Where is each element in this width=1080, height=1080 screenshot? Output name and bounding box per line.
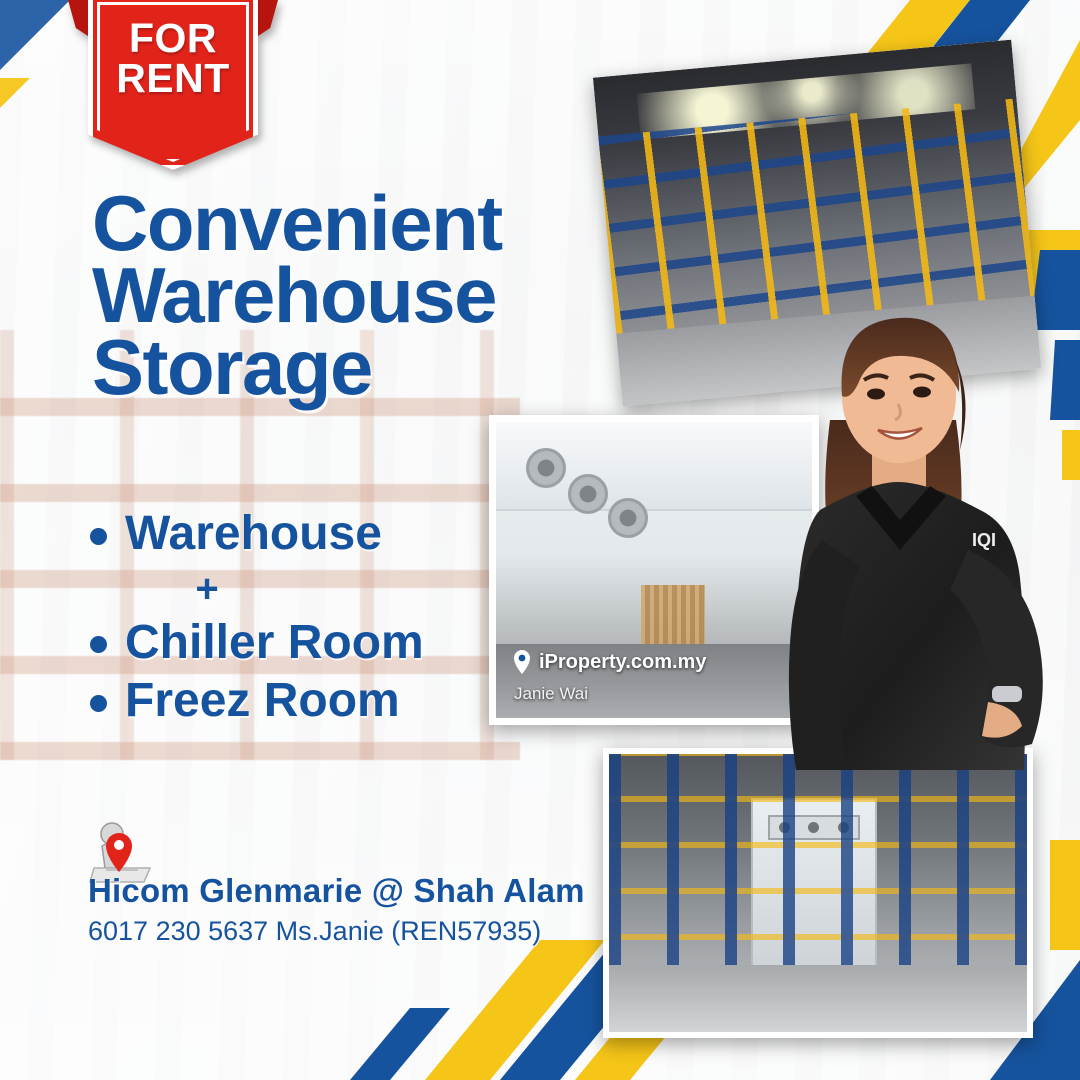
freezer-racking-photo: [603, 748, 1033, 1038]
headline-line-3: Storage: [92, 332, 652, 404]
feature-label: Chiller Room: [125, 614, 424, 673]
footer-contact: 6017 230 5637 Ms.Janie (REN57935): [88, 916, 585, 947]
agent-photo-cutout: IQI: [760, 300, 1080, 770]
fan-icon: [608, 498, 648, 538]
bullet-dot-icon: [90, 695, 107, 712]
agent-watch: [992, 686, 1022, 702]
fan-icon: [568, 474, 608, 514]
for-rent-badge: FOR RENT: [88, 0, 258, 170]
agent-company-logo: IQI: [972, 530, 996, 550]
poster-canvas: FOR RENT Convenient Warehouse Storage Wa…: [0, 0, 1080, 1080]
watermark-agent-name: Janie Wai: [514, 684, 588, 704]
headline-line-1: Convenient: [92, 188, 652, 260]
footer-location: Hicom Glenmarie @ Shah Alam: [88, 872, 585, 910]
bullet-dot-icon: [90, 636, 107, 653]
footer-contact-block: Hicom Glenmarie @ Shah Alam 6017 230 563…: [88, 872, 585, 947]
headline-line-2: Warehouse: [92, 260, 652, 332]
headline: Convenient Warehouse Storage: [92, 188, 652, 403]
feature-label: +: [90, 564, 290, 614]
bullet-dot-icon: [90, 528, 107, 545]
feature-label: Freez Room: [125, 672, 400, 731]
feature-label: Warehouse: [125, 505, 382, 564]
warehouse-floor-2: [609, 965, 1027, 1032]
location-pin-icon: [512, 650, 532, 674]
watermark-brand: iProperty.com.my: [539, 651, 706, 674]
badge-line-1: FOR: [88, 18, 258, 58]
racking-scene-2: [609, 754, 1027, 1032]
fan-icon: [526, 448, 566, 488]
iproperty-watermark: iProperty.com.my: [512, 650, 706, 674]
agent-eye-left: [867, 389, 885, 400]
badge-line-2: RENT: [88, 58, 258, 98]
agent-eye-right: [913, 387, 931, 398]
